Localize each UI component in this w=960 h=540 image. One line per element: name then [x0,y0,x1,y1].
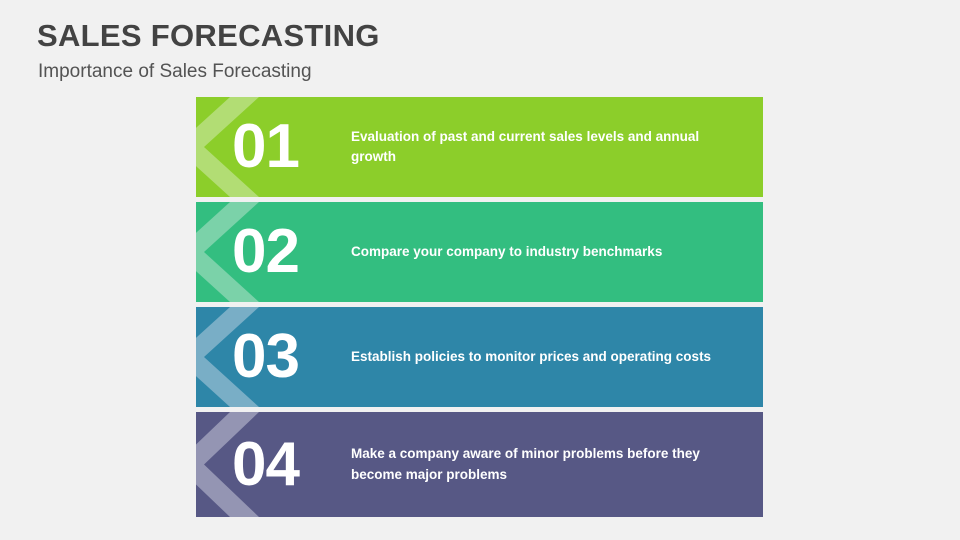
band-description: Establish policies to monitor prices and… [351,307,741,407]
band-description: Evaluation of past and current sales lev… [351,97,741,197]
numbered-band[interactable]: 04Make a company aware of minor problems… [196,412,763,517]
numbered-band[interactable]: 01Evaluation of past and current sales l… [196,97,763,197]
band-description: Make a company aware of minor problems b… [351,412,741,517]
numbered-band[interactable]: 02Compare your company to industry bench… [196,202,763,302]
numbered-band[interactable]: 03Establish policies to monitor prices a… [196,307,763,407]
band-number: 03 [232,307,299,407]
page-subtitle: Importance of Sales Forecasting [38,61,312,83]
numbered-band-list: 01Evaluation of past and current sales l… [196,97,763,517]
band-description: Compare your company to industry benchma… [351,202,741,302]
page-title: SALES FORECASTING [37,18,380,54]
band-number: 02 [232,202,299,302]
slide-canvas: SALES FORECASTING Importance of Sales Fo… [0,0,960,540]
band-number: 04 [232,412,299,517]
band-number: 01 [232,97,299,197]
